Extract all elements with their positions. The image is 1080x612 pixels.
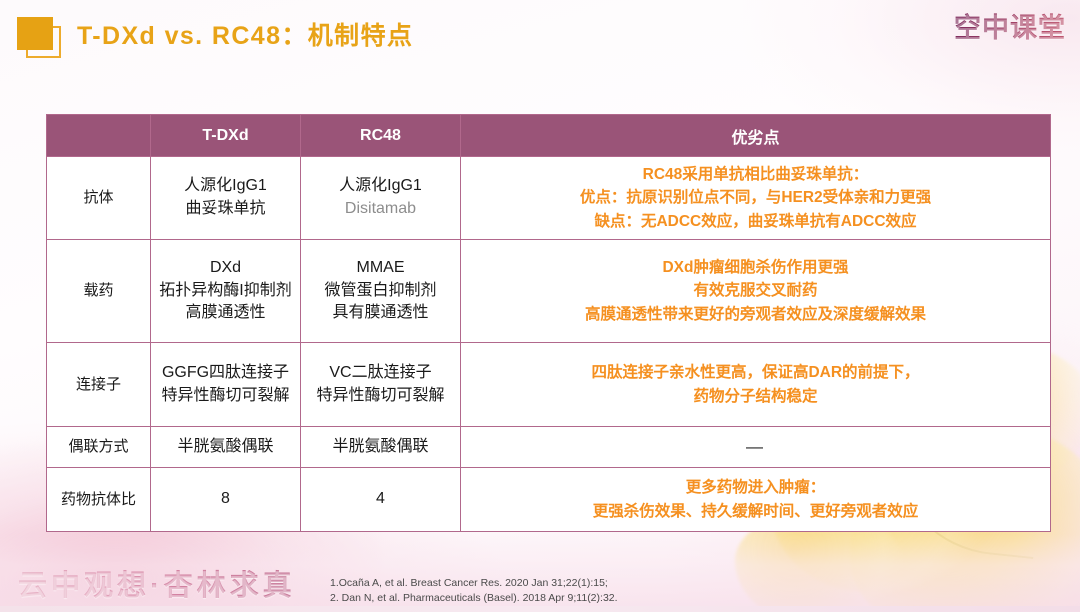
- square-filled-icon: [17, 17, 53, 50]
- table-row: 药物抗体比 8 4 更多药物进入肿瘤： 更强杀伤效果、持久缓解时间、更好旁观者效…: [47, 468, 1051, 532]
- cell-line: 拓扑异构酶I抑制剂: [151, 280, 300, 303]
- column-header-rc48: RC48: [301, 115, 461, 157]
- comparison-table: T-DXd RC48 优劣点 抗体 人源化IgG1 曲妥珠单抗 人源化IgG1 …: [46, 114, 1051, 532]
- table-row: 抗体 人源化IgG1 曲妥珠单抗 人源化IgG1 Disitamab RC48采…: [47, 157, 1051, 240]
- cell-tdxd: 人源化IgG1 曲妥珠单抗: [151, 157, 301, 240]
- cell-line: 具有膜通透性: [301, 302, 460, 325]
- table-row: 偶联方式 半胱氨酸偶联 半胱氨酸偶联 —: [47, 427, 1051, 468]
- logo-text: 空中课堂: [954, 13, 1066, 43]
- cell-rc48: 4: [301, 468, 461, 532]
- cell-note: DXd肿瘤细胞杀伤作用更强 有效克服交叉耐药 高膜通透性带来更好的旁观者效应及深…: [461, 240, 1051, 343]
- cell-line: 人源化IgG1: [301, 175, 460, 198]
- cell-rc48: MMAE 微管蛋白抑制剂 具有膜通透性: [301, 240, 461, 343]
- cell-tdxd: 8: [151, 468, 301, 532]
- row-label: 抗体: [47, 157, 151, 240]
- cell-line: 高膜通透性: [151, 302, 300, 325]
- cell-tdxd: 半胱氨酸偶联: [151, 427, 301, 468]
- column-header-blank: [47, 115, 151, 157]
- table-header: T-DXd RC48 优劣点: [47, 115, 1051, 157]
- cell-note: 更多药物进入肿瘤： 更强杀伤效果、持久缓解时间、更好旁观者效应: [461, 468, 1051, 532]
- note-line: RC48采用单抗相比曲妥珠单抗：: [461, 163, 1050, 186]
- cell-line-muted: Disitamab: [301, 198, 460, 221]
- cell-line: 微管蛋白抑制剂: [301, 280, 460, 303]
- note-line: 更强杀伤效果、持久缓解时间、更好旁观者效应: [461, 500, 1050, 523]
- cell-line: 曲妥珠单抗: [151, 198, 300, 221]
- cell-note: RC48采用单抗相比曲妥珠单抗： 优点：抗原识别位点不同，与HER2受体亲和力更…: [461, 157, 1051, 240]
- cell-line: 特异性酶切可裂解: [151, 385, 300, 408]
- footer-brand-text: 云中观想·杏林求真: [18, 562, 296, 604]
- cell-note: —: [461, 427, 1051, 468]
- cell-rc48: VC二肽连接子 特异性酶切可裂解: [301, 343, 461, 427]
- note-line: 缺点：无ADCC效应，曲妥珠单抗有ADCC效应: [461, 210, 1050, 233]
- table-body: 抗体 人源化IgG1 曲妥珠单抗 人源化IgG1 Disitamab RC48采…: [47, 157, 1051, 532]
- note-line: 四肽连接子亲水性更高，保证高DAR的前提下，: [461, 361, 1050, 384]
- note-line: DXd肿瘤细胞杀伤作用更强: [461, 256, 1050, 279]
- slide-footer: 云中观想·杏林求真 1.Ocaña A, et al. Breast Cance…: [0, 534, 1080, 612]
- slide-canvas: T-DXd vs. RC48：机制特点 空中课堂 T-DXd RC48 优劣点 …: [0, 0, 1080, 612]
- cell-line: GGFG四肽连接子: [151, 362, 300, 385]
- footer-strip: [0, 606, 1080, 612]
- row-label: 药物抗体比: [47, 468, 151, 532]
- page-title: T-DXd vs. RC48：机制特点: [77, 16, 413, 52]
- slide-header: T-DXd vs. RC48：机制特点 空中课堂: [0, 0, 1080, 72]
- column-header-prosand-cons: 优劣点: [461, 115, 1051, 157]
- note-line: 有效克服交叉耐药: [461, 279, 1050, 302]
- note-line: 优点：抗原识别位点不同，与HER2受体亲和力更强: [461, 186, 1050, 209]
- cell-tdxd: GGFG四肽连接子 特异性酶切可裂解: [151, 343, 301, 427]
- cell-line: VC二肽连接子: [301, 362, 460, 385]
- note-line: 更多药物进入肿瘤：: [461, 476, 1050, 499]
- cell-line: DXd: [151, 257, 300, 280]
- cell-line: MMAE: [301, 257, 460, 280]
- note-line: 药物分子结构稳定: [461, 385, 1050, 408]
- table-row: 连接子 GGFG四肽连接子 特异性酶切可裂解 VC二肽连接子 特异性酶切可裂解 …: [47, 343, 1051, 427]
- row-label: 载药: [47, 240, 151, 343]
- cell-line: 特异性酶切可裂解: [301, 385, 460, 408]
- cell-line: 人源化IgG1: [151, 175, 300, 198]
- row-label: 偶联方式: [47, 427, 151, 468]
- table-header-row: T-DXd RC48 优劣点: [47, 115, 1051, 157]
- logo-kongzhongketang: 空中课堂: [954, 6, 1066, 45]
- cell-tdxd: DXd 拓扑异构酶I抑制剂 高膜通透性: [151, 240, 301, 343]
- reference-item: 2. Dan N, et al. Pharmaceuticals (Basel)…: [330, 591, 618, 606]
- square-decoration-icon: [17, 17, 63, 59]
- note-line: 高膜通透性带来更好的旁观者效应及深度缓解效果: [461, 303, 1050, 326]
- reference-item: 1.Ocaña A, et al. Breast Cancer Res. 202…: [330, 576, 618, 591]
- column-header-tdxd: T-DXd: [151, 115, 301, 157]
- row-label: 连接子: [47, 343, 151, 427]
- cell-rc48: 人源化IgG1 Disitamab: [301, 157, 461, 240]
- table-row: 载药 DXd 拓扑异构酶I抑制剂 高膜通透性 MMAE 微管蛋白抑制剂 具有膜通…: [47, 240, 1051, 343]
- reference-list: 1.Ocaña A, et al. Breast Cancer Res. 202…: [330, 576, 618, 606]
- cell-note: 四肽连接子亲水性更高，保证高DAR的前提下， 药物分子结构稳定: [461, 343, 1051, 427]
- cell-rc48: 半胱氨酸偶联: [301, 427, 461, 468]
